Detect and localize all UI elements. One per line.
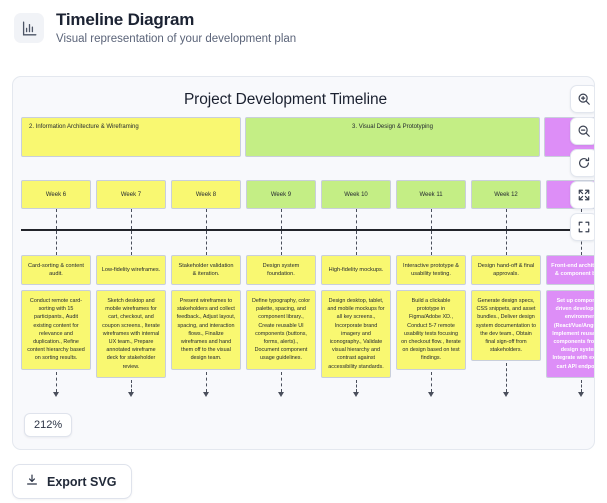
task-title-card[interactable]: Front-end architecture & component build… [546, 255, 595, 285]
page-title: Timeline Diagram [56, 10, 296, 30]
connector-line [206, 209, 207, 229]
connector-line [431, 231, 432, 255]
week-header-label: Week 11 [419, 192, 442, 198]
task-title-card[interactable]: Stakeholder validation & iteration. [171, 255, 241, 285]
connector-line [356, 231, 357, 255]
connector-arrow [428, 392, 434, 397]
expand-button[interactable] [570, 181, 595, 209]
task-detail-card[interactable]: Set up component-driven development envi… [546, 290, 595, 378]
connector-line [131, 231, 132, 255]
task-detail-card[interactable]: Present wireframes to stakeholders and c… [171, 290, 241, 370]
task-title-card[interactable]: Interactive prototype & usability testin… [396, 255, 466, 285]
connector-line [506, 363, 507, 392]
week-header-cell[interactable]: Week 8 [171, 180, 241, 209]
week-header-cell[interactable]: Week 11 [396, 180, 466, 209]
week-header-row: Week 6Week 7Week 8Week 9Week 10Week 11We… [21, 180, 595, 209]
task-detail-card[interactable]: Generate design specs, CSS snippets, and… [471, 290, 541, 361]
week-header-cell[interactable]: Week 7 [96, 180, 166, 209]
reset-view-button[interactable] [570, 149, 595, 177]
task-column: Card-sorting & content audit.Conduct rem… [21, 255, 91, 370]
phase-bar[interactable]: 2. Information Architecture & Wireframin… [21, 117, 241, 157]
phase-bar-label: 2. Information Architecture & Wireframin… [29, 124, 139, 130]
task-column: Interactive prototype & usability testin… [396, 255, 466, 370]
header-text-block: Timeline Diagram Visual representation o… [56, 10, 296, 47]
connector-arrow [353, 392, 359, 397]
task-detail-card[interactable]: Define typography, color palette, spacin… [246, 290, 316, 370]
zoom-level-badge: 212% [24, 413, 72, 437]
connector-line [206, 231, 207, 255]
connector-arrow [128, 392, 134, 397]
task-detail-text: Sketch desktop and mobile wireframes for… [102, 298, 160, 370]
week-header-label: Week 8 [196, 192, 216, 198]
connector-line [356, 209, 357, 229]
task-title-label: Design system foundation. [251, 262, 311, 278]
week-header-cell[interactable]: Week 10 [321, 180, 391, 209]
task-title-label: Low-fidelity wireframes. [102, 266, 160, 274]
task-detail-card[interactable]: Build a clickable prototype in Figma/Ado… [396, 290, 466, 370]
task-title-card[interactable]: Design hand-off & final approvals. [471, 255, 541, 285]
task-detail-card[interactable]: Sketch desktop and mobile wireframes for… [96, 290, 166, 378]
task-column: Low-fidelity wireframes.Sketch desktop a… [96, 255, 166, 378]
connector-arrow [278, 392, 284, 397]
connector-line [431, 209, 432, 229]
diagram-title: Project Development Timeline [13, 91, 558, 109]
task-title-card[interactable]: Design system foundation. [246, 255, 316, 285]
task-column: High-fidelity mockups.Design desktop, ta… [321, 255, 391, 378]
connector-line [56, 209, 57, 229]
task-title-label: Stakeholder validation & iteration. [176, 262, 236, 278]
task-title-label: High-fidelity mockups. [329, 266, 384, 274]
connector-arrow [503, 392, 509, 397]
week-header-label: Week 12 [494, 192, 518, 198]
connector-line [131, 209, 132, 229]
connector-line [206, 372, 207, 392]
task-column: Design system foundation.Define typograp… [246, 255, 316, 370]
export-svg-label: Export SVG [47, 475, 116, 489]
week-header-label: Week 7 [121, 192, 141, 198]
export-svg-button[interactable]: Export SVG [12, 464, 132, 499]
connector-line [506, 209, 507, 229]
task-column: Design hand-off & final approvals.Genera… [471, 255, 541, 361]
task-title-card[interactable]: Card-sorting & content audit. [21, 255, 91, 285]
zoom-in-button[interactable] [570, 85, 595, 113]
timeline-axis [21, 229, 595, 231]
task-detail-text: Conduct remote card-sorting with 15 part… [27, 298, 85, 361]
task-detail-text: Generate design specs, CSS snippets, and… [476, 298, 536, 353]
task-title-label: Card-sorting & content audit. [26, 262, 86, 278]
zoom-out-button[interactable] [570, 117, 595, 145]
bar-chart-icon [14, 13, 44, 43]
timeline-diagram[interactable]: Project Development Timeline 2. Informat… [13, 77, 595, 450]
week-header-label: Week 6 [46, 192, 66, 198]
task-detail-card[interactable]: Design desktop, tablet, and mobile mocku… [321, 290, 391, 378]
week-header-label: Week 9 [271, 192, 291, 198]
task-title-label: Interactive prototype & usability testin… [401, 262, 461, 278]
week-header-cell[interactable]: Week 12 [471, 180, 541, 209]
page-subtitle: Visual representation of your developmen… [56, 32, 296, 47]
week-header-cell[interactable]: Week 6 [21, 180, 91, 209]
connector-line [356, 380, 357, 392]
week-header-label: Week 10 [344, 192, 368, 198]
download-icon [25, 473, 39, 490]
connector-line [506, 231, 507, 255]
connector-line [431, 372, 432, 392]
task-detail-text: Define typography, color palette, spacin… [252, 298, 310, 361]
connector-line [56, 372, 57, 392]
diagram-canvas-panel[interactable]: Project Development Timeline 2. Informat… [12, 76, 595, 450]
connector-line [281, 372, 282, 392]
page-header: Timeline Diagram Visual representation o… [0, 0, 607, 62]
connector-arrow [53, 392, 59, 397]
task-detail-card[interactable]: Conduct remote card-sorting with 15 part… [21, 290, 91, 370]
task-title-label: Design hand-off & final approvals. [476, 262, 536, 278]
connector-line [281, 209, 282, 229]
task-column: Front-end architecture & component build… [546, 255, 595, 378]
phase-bar[interactable]: 3. Visual Design & Prototyping [245, 117, 540, 157]
task-detail-text: Present wireframes to stakeholders and c… [177, 298, 235, 361]
connector-arrow [203, 392, 209, 397]
task-title-card[interactable]: High-fidelity mockups. [321, 255, 391, 285]
week-header-cell[interactable]: Week 9 [246, 180, 316, 209]
task-title-label: Front-end architecture & component build… [551, 262, 595, 278]
task-column: Stakeholder validation & iteration.Prese… [171, 255, 241, 370]
task-title-card[interactable]: Low-fidelity wireframes. [96, 255, 166, 285]
phase-bar-row: 2. Information Architecture & Wireframin… [21, 117, 595, 157]
task-detail-text: Build a clickable prototype in Figma/Ado… [401, 298, 461, 361]
connector-line [581, 380, 582, 392]
fit-view-button[interactable] [570, 213, 595, 241]
connector-line [281, 231, 282, 255]
connector-line [56, 231, 57, 255]
task-detail-text: Design desktop, tablet, and mobile mocku… [327, 298, 384, 370]
connector-line [131, 380, 132, 392]
canvas-controls [570, 85, 595, 241]
footer-bar: Export SVG [0, 450, 607, 499]
phase-bar-label: 3. Visual Design & Prototyping [352, 124, 433, 130]
connector-arrow [578, 392, 584, 397]
task-detail-text: Set up component-driven development envi… [552, 298, 595, 370]
